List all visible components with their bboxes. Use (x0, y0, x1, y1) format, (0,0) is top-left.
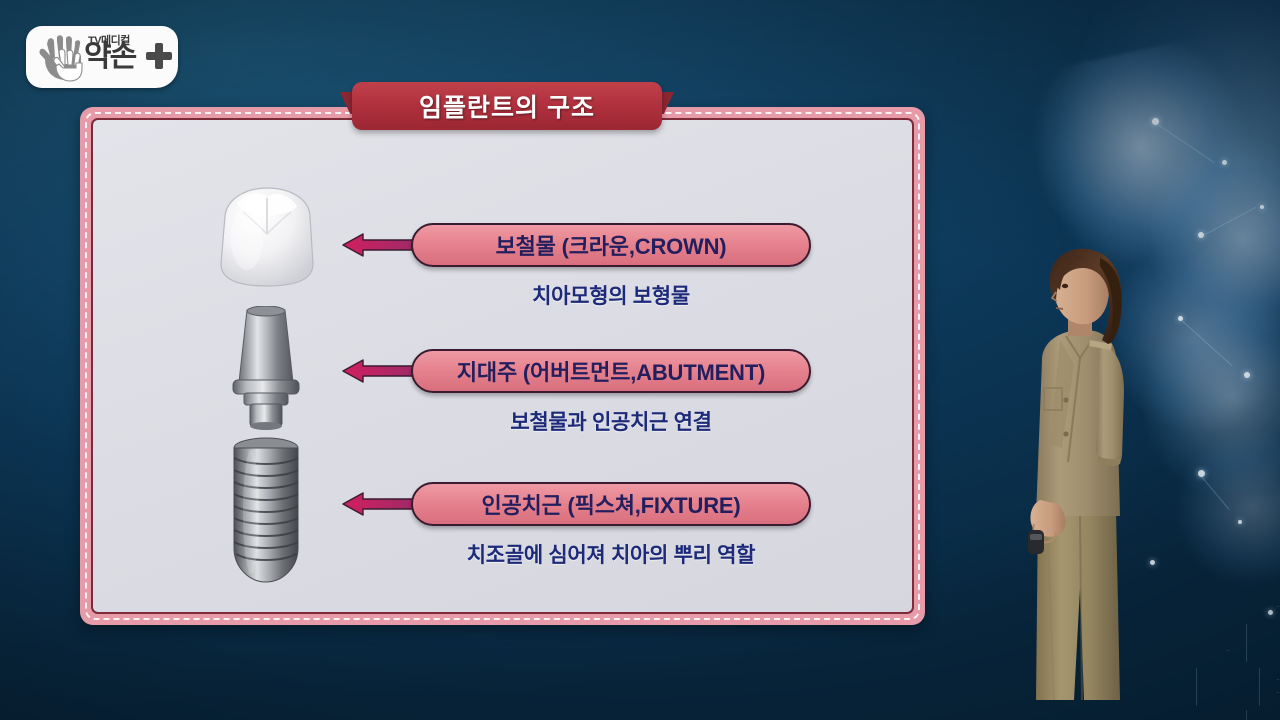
arrow-left-icon (341, 232, 419, 258)
arrow-left-icon (341, 358, 419, 384)
label-pill-abutment[interactable]: 지대주 (어버트먼트,ABUTMENT) (411, 349, 811, 393)
label-pill-crown-text: 보철물 (크라운,CROWN) (496, 229, 727, 261)
slide-title-body: 임플란트의 구조 (352, 82, 662, 130)
particle-dot (1244, 372, 1250, 378)
slide-title-text: 임플란트의 구조 (419, 88, 595, 124)
particle-dot (1238, 520, 1242, 524)
caption-abutment: 보철물과 인공치근 연결 (411, 406, 811, 436)
label-pill-crown[interactable]: 보철물 (크라운,CROWN) (411, 223, 811, 267)
plus-icon (146, 43, 172, 69)
dental-abutment-icon (211, 306, 321, 432)
slide-title-banner: 임플란트의 구조 (352, 82, 662, 130)
caption-fixture: 치조골에 심어져 치아의 뿌리 역할 (391, 539, 831, 569)
arrow-left-icon (341, 491, 419, 517)
label-pill-abutment-text: 지대주 (어버트먼트,ABUTMENT) (457, 355, 765, 387)
logo-title: 약손 (84, 42, 135, 72)
channel-logo: TV메디컬 약손 (26, 26, 178, 88)
hand-icon (32, 34, 90, 82)
particle-dot (1222, 160, 1227, 165)
presenter-person-icon (988, 248, 1198, 720)
slide-panel: 보철물 (크라운,CROWN) 치아모형의 보형물 지대주 (어버트먼트,ABU… (80, 107, 925, 625)
label-pill-fixture[interactable]: 인공치근 (픽스쳐,FIXTURE) (411, 482, 811, 526)
slide-content-area: 보철물 (크라운,CROWN) 치아모형의 보형물 지대주 (어버트먼트,ABU… (91, 118, 914, 614)
dental-crown-icon (203, 182, 331, 292)
particle-dot (1260, 205, 1264, 209)
caption-crown: 치아모형의 보형물 (411, 280, 811, 310)
dental-fixture-screw-icon (211, 432, 321, 592)
label-pill-fixture-text: 인공치근 (픽스쳐,FIXTURE) (481, 488, 740, 520)
